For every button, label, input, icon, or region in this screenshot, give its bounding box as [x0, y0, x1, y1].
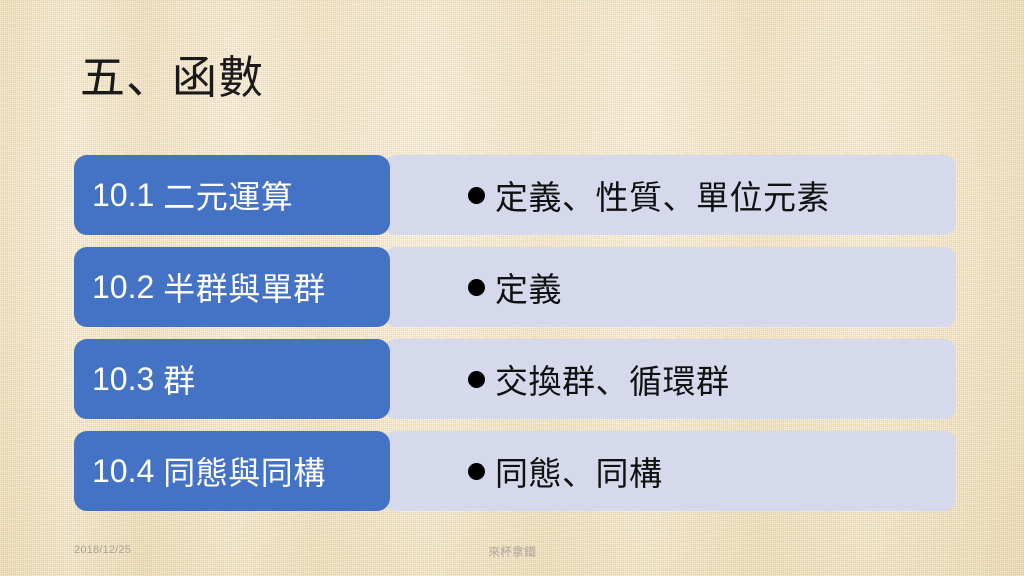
section-detail-text: 定義、性質、單位元素	[495, 171, 830, 219]
section-chip-10-1[interactable]: 10.1 二元運算	[74, 155, 390, 235]
section-topic: 二元運算	[163, 172, 293, 218]
section-detail-text: 定義	[495, 263, 562, 311]
content-row: 10.3 群 交換群、循環群	[74, 339, 956, 419]
bullet-icon	[468, 371, 485, 388]
section-number: 10.2	[92, 269, 154, 306]
content-rows: 10.1 二元運算 定義、性質、單位元素 10.2 半群與單群 定義 10.3 …	[74, 155, 956, 511]
content-row: 10.1 二元運算 定義、性質、單位元素	[74, 155, 956, 235]
section-detail-text: 同態、同構	[495, 447, 663, 495]
content-row: 10.2 半群與單群 定義	[74, 247, 956, 327]
content-row: 10.4 同態與同構 同態、同構	[74, 431, 956, 511]
section-number: 10.1	[92, 177, 154, 214]
section-chip-10-3[interactable]: 10.3 群	[74, 339, 390, 419]
bullet-icon	[468, 187, 485, 204]
section-topic: 群	[163, 356, 196, 402]
section-topic: 半群與單群	[163, 264, 326, 310]
slide-title: 五、函數	[80, 52, 264, 105]
section-detail-10-4[interactable]: 同態、同構	[384, 431, 956, 511]
section-detail-10-2[interactable]: 定義	[384, 247, 956, 327]
section-detail-10-1[interactable]: 定義、性質、單位元素	[384, 155, 956, 235]
presentation-slide: 五、函數 10.1 二元運算 定義、性質、單位元素 10.2 半群與單群 定義	[0, 0, 1024, 576]
section-detail-text: 交換群、循環群	[495, 355, 730, 403]
section-chip-10-2[interactable]: 10.2 半群與單群	[74, 247, 390, 327]
section-topic: 同態與同構	[163, 448, 326, 494]
slide-footer: 2018/12/25 來杯拿鐵	[0, 542, 1024, 564]
bullet-icon	[468, 463, 485, 480]
footer-center-text: 來杯拿鐵	[0, 543, 1024, 560]
section-number: 10.3	[92, 361, 154, 398]
section-number: 10.4	[92, 453, 154, 490]
section-detail-10-3[interactable]: 交換群、循環群	[384, 339, 956, 419]
bullet-icon	[468, 279, 485, 296]
section-chip-10-4[interactable]: 10.4 同態與同構	[74, 431, 390, 511]
